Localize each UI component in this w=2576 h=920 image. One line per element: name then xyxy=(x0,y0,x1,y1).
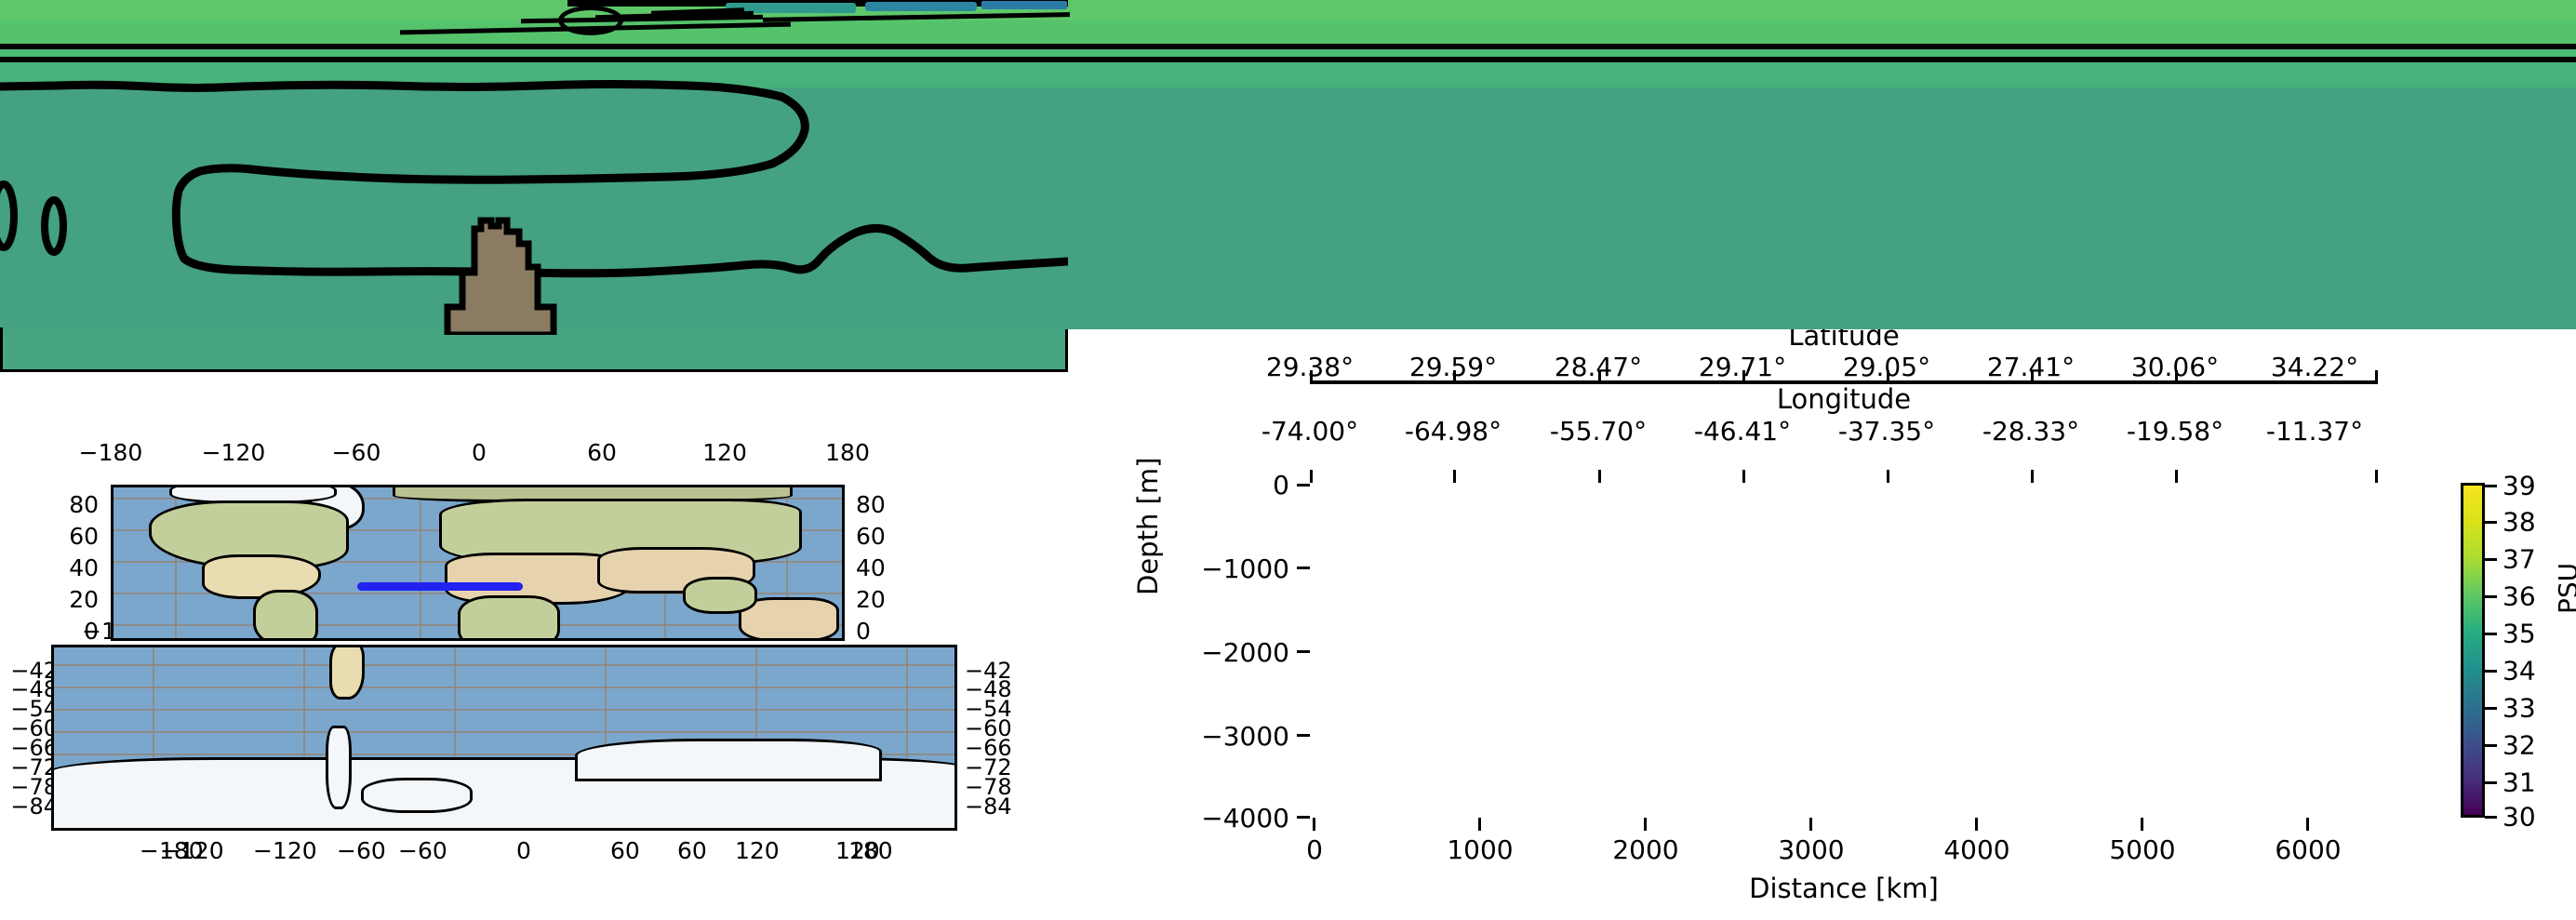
map-south-ytick-left-7: −84 xyxy=(0,793,58,820)
map-north-ytick-right-2: 40 xyxy=(856,554,886,581)
map-north-xtick-1: −120 xyxy=(171,439,296,466)
locator-map-south[interactable] xyxy=(51,645,957,831)
lon-tick-7: -11.37° xyxy=(2251,416,2378,447)
lat-tick-7: 34.22° xyxy=(2251,352,2378,382)
map-south-xtick-4b: 60 xyxy=(677,837,707,864)
x-tick-1: 1000 xyxy=(1417,834,1543,865)
map-north-ytick-right-0: 80 xyxy=(856,491,886,518)
map-south-xtick-3: 0 xyxy=(516,837,531,864)
southeast-asia xyxy=(683,577,757,614)
map-north-ytick-right-4: 0 xyxy=(856,618,871,645)
africa-south xyxy=(458,595,560,641)
x-tick-2: 2000 xyxy=(1582,834,1709,865)
y-tick-1: −1000 xyxy=(1154,553,1289,584)
lon-tick-4: -37.35° xyxy=(1823,416,1950,447)
map-gridline xyxy=(54,731,954,733)
depth-axis-label: Depth [m] xyxy=(1132,458,1164,595)
bathymetry-fill xyxy=(0,37,1068,335)
y-tick-4: −4000 xyxy=(1154,803,1289,833)
cbar-label-9: 30 xyxy=(2503,802,2536,833)
x-tick-6: 6000 xyxy=(2245,834,2371,865)
map-south-xtick-0b: −120 xyxy=(160,837,224,864)
map-gridline xyxy=(54,709,954,711)
cbar-label-4: 35 xyxy=(2503,619,2536,649)
map-north-ytick-right-1: 60 xyxy=(856,523,886,550)
map-north-ytick-left-2: 40 xyxy=(37,554,99,581)
cbar-label-5: 34 xyxy=(2503,656,2536,687)
map-north-ytick-left-0: 80 xyxy=(37,491,99,518)
map-south-xtick-6b: 180 xyxy=(848,837,893,864)
map-south-xtick-1: −120 xyxy=(253,837,317,864)
map-north-xtick-6: 180 xyxy=(785,439,910,466)
y-tick-3: −3000 xyxy=(1154,721,1289,752)
map-north-ytick-left-1: 60 xyxy=(37,523,99,550)
map-north-ytick-right-3: 20 xyxy=(856,586,886,613)
central-south-america xyxy=(253,590,318,641)
salinity-cross-section[interactable] xyxy=(0,37,1068,372)
distance-axis-label: Distance [km] xyxy=(1310,873,2378,904)
map-north-xtick-0: −180 xyxy=(48,439,173,466)
map-gridline xyxy=(54,687,954,688)
transect-path xyxy=(357,582,523,591)
y-tick-0: 0 xyxy=(1154,470,1289,500)
south-america-tip xyxy=(329,645,365,700)
x-tick-0: 0 xyxy=(1251,834,1378,865)
cbar-label-6: 33 xyxy=(2503,693,2536,724)
lon-tick-5: -28.33° xyxy=(1968,416,2094,447)
x-tick-5: 5000 xyxy=(2079,834,2206,865)
map-north-xtick-3: 0 xyxy=(417,439,541,466)
map-south-xtick-4: 60 xyxy=(610,837,640,864)
lon-tick-6: -19.58° xyxy=(2112,416,2238,447)
map-north-xtick-2: −60 xyxy=(294,439,419,466)
antarctic-east-coast xyxy=(575,739,882,781)
cbar-label-0: 39 xyxy=(2503,471,2536,501)
colorbar[interactable] xyxy=(2461,483,2485,818)
map-south-ytick-right-7: −84 xyxy=(965,793,1012,820)
y-tick-2: −2000 xyxy=(1154,637,1289,668)
map-south-xtick-2: −60 xyxy=(398,837,447,864)
colorbar-unit-label: PSU xyxy=(2553,563,2576,614)
x-tick-3: 3000 xyxy=(1748,834,1875,865)
map-south-xtick-5: 120 xyxy=(735,837,780,864)
x-tick-4: 4000 xyxy=(1914,834,2040,865)
weddell-ice xyxy=(361,778,473,813)
map-gridline xyxy=(54,664,954,666)
longitude-axis-label: Longitude xyxy=(1310,383,2378,415)
lon-tick-1: -64.98° xyxy=(1390,416,1516,447)
cbar-label-7: 32 xyxy=(2503,730,2536,761)
map-north-ytick-left-3: 20 xyxy=(37,586,99,613)
map-south-xtick-1b: −60 xyxy=(337,837,386,864)
cbar-label-8: 31 xyxy=(2503,767,2536,798)
lon-tick-0: -74.00° xyxy=(1247,416,1373,447)
map-north-xtick-5: 120 xyxy=(662,439,787,466)
lon-tick-3: -46.41° xyxy=(1679,416,1806,447)
antarctic-peninsula xyxy=(326,726,352,809)
locator-map-north[interactable] xyxy=(111,485,845,641)
map-gridline xyxy=(420,487,421,638)
cbar-label-1: 38 xyxy=(2503,507,2536,538)
map-north-xtick-4: 60 xyxy=(540,439,664,466)
lon-tick-2: -55.70° xyxy=(1535,416,1662,447)
cbar-label-3: 36 xyxy=(2503,581,2536,612)
cbar-label-2: 37 xyxy=(2503,544,2536,575)
